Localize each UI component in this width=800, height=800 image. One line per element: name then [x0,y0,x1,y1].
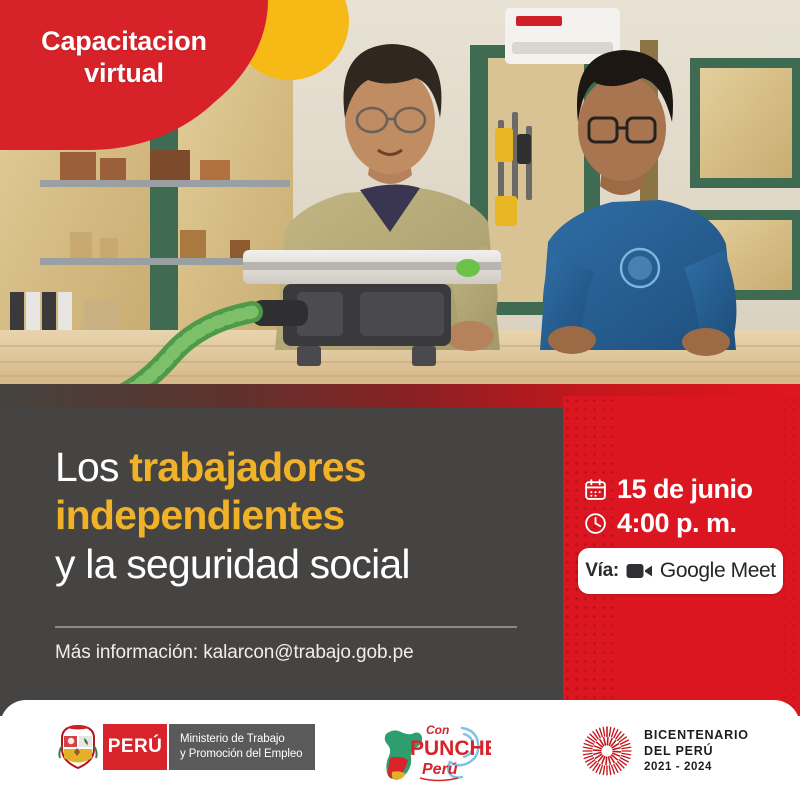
ministry-name-line1: Ministerio de Trabajo [180,732,302,747]
bicentenario-logo: BICENTENARIO DEL PERÚ 2021 - 2024 [581,725,749,777]
headline-line-1: Los trabajadores [55,443,555,491]
badge-title-line1: Capacitacion [8,26,240,58]
ministry-name: Ministerio de Trabajo y Promoción del Em… [167,724,315,770]
event-details-panel: 15 de junio 4:00 p. m. Vía: Google Meet [563,396,800,716]
meeting-platform-pill[interactable]: Vía: Google Meet [578,548,783,594]
ministry-logo: PERÚ Ministerio de Trabajo y Promoción d… [53,724,315,770]
bicentenario-line1: BICENTENARIO [644,727,749,744]
calendar-icon [583,477,608,502]
badge-title: Capacitacion virtual [0,26,240,90]
bicentenario-years: 2021 - 2024 [644,760,749,775]
headline: Los trabajadores independientes y la seg… [55,443,555,588]
via-label: Vía: [585,560,619,582]
clock-icon [583,511,608,536]
headline-lead: Los [55,444,129,490]
punche-line2: PUNCHE [410,737,491,760]
bicentenario-line2: DEL PERÚ [644,743,749,760]
platform-label: Google Meet [660,559,776,583]
punche-line3: Perú [422,761,458,778]
footer-logo-bar: PERÚ Ministerio de Trabajo y Promoción d… [0,700,800,800]
bicentennial-sun-icon [581,725,633,777]
headline-line-3: y la seguridad social [55,540,555,588]
headline-accent-1: trabajadores [129,444,366,490]
ministry-name-line2: y Promoción del Empleo [180,747,302,762]
badge-title-line2: virtual [8,58,240,90]
headline-accent-2: independientes [55,491,555,539]
event-date-label: 15 de junio [617,474,753,505]
dot-pattern-right [780,396,800,716]
video-camera-icon [626,561,653,581]
bicentenario-text: BICENTENARIO DEL PERÚ 2021 - 2024 [644,727,749,775]
poster-canvas: Capacitacion virtual Los trabajadores in… [0,0,800,800]
peru-wordmark: PERÚ [103,724,167,770]
event-date-row: 15 de junio [583,474,795,505]
contact-info: Más información: kalarcon@trabajo.gob.pe [55,640,545,667]
contact-divider [55,626,517,628]
event-time-label: 4:00 p. m. [617,508,737,539]
peru-coat-of-arms-icon [53,722,103,772]
punche-line1: Con [426,723,449,737]
event-time-row: 4:00 p. m. [583,508,795,539]
event-info-list: 15 de junio 4:00 p. m. [583,474,795,542]
con-punche-peru-logo: Con PUNCHE Perú [376,718,491,789]
